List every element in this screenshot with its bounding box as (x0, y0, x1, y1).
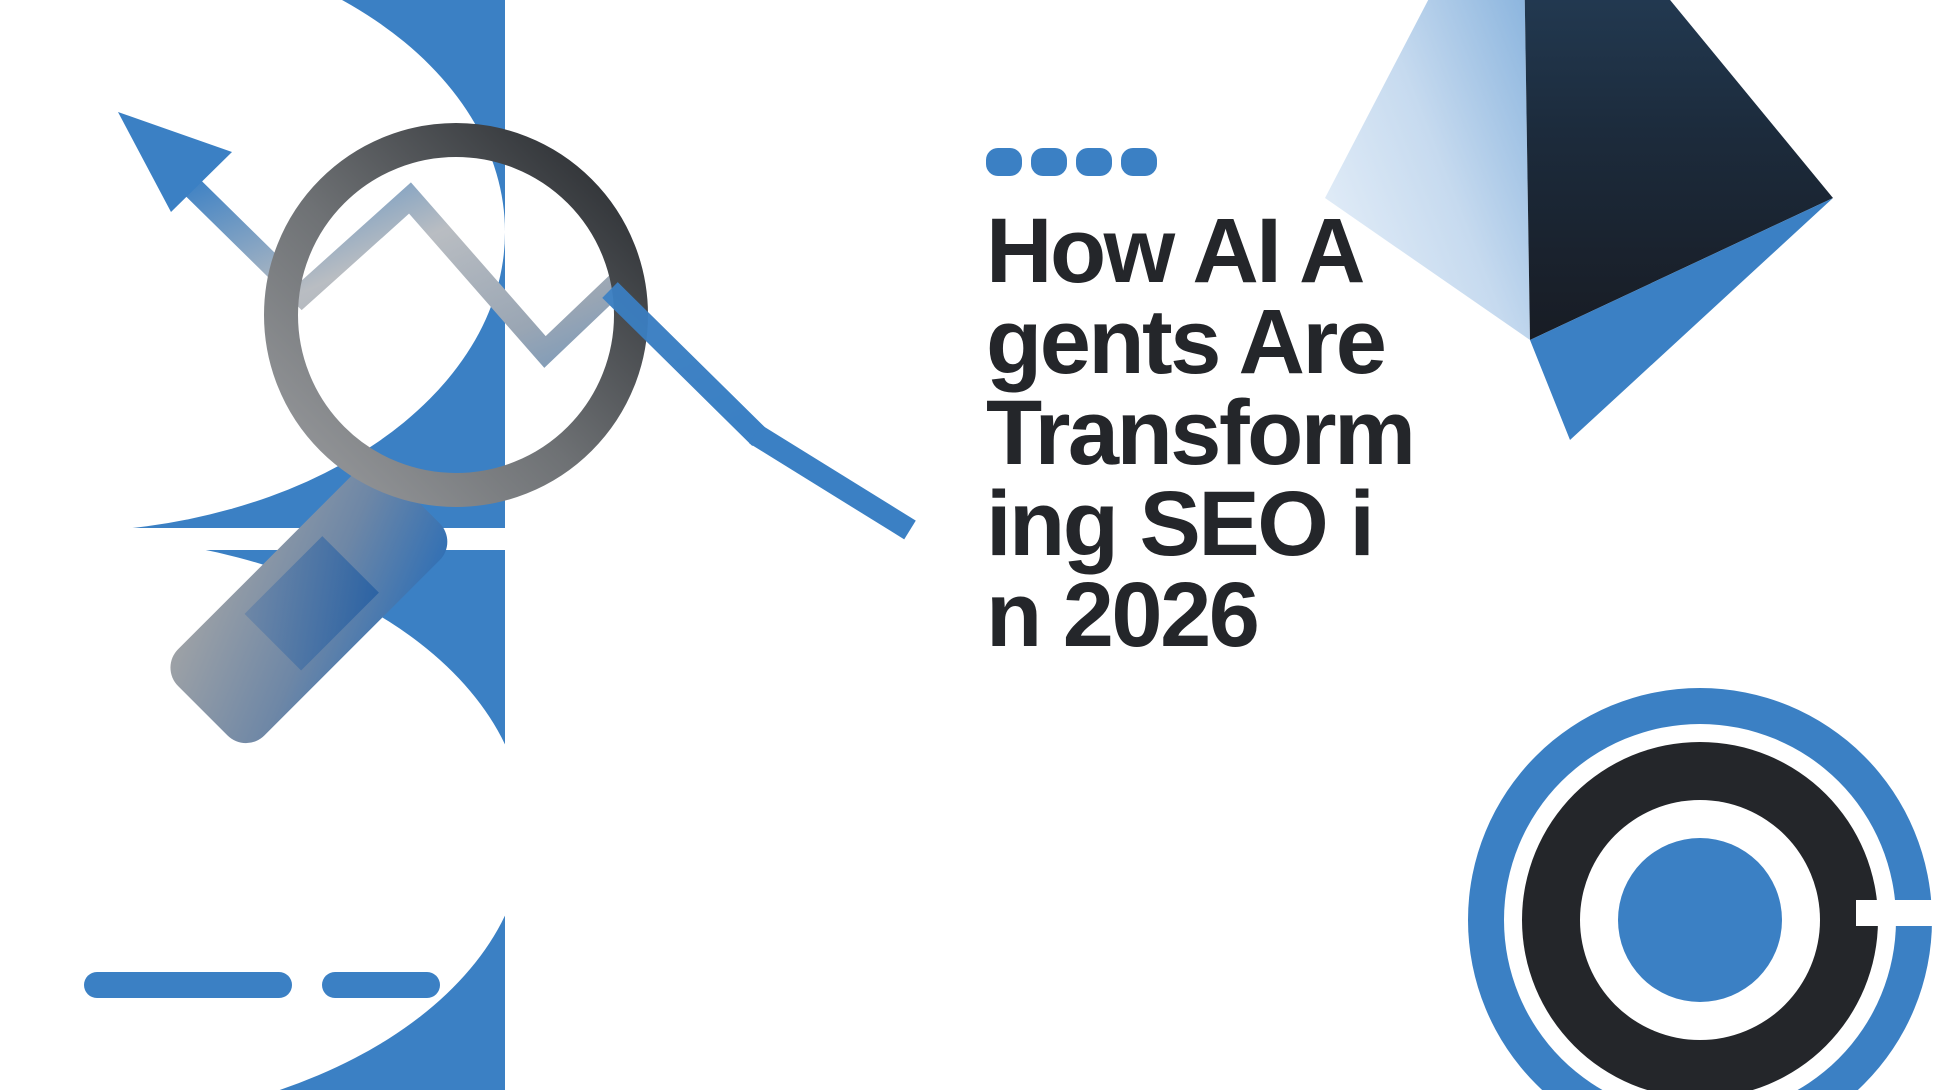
headline-block: How AI Agents Are Transforming SEO in 20… (986, 148, 1416, 661)
magnifier-artwork-layer (0, 0, 1958, 1090)
eyebrow-dots-row (986, 148, 1416, 176)
poster-canvas: How AI Agents Are Transforming SEO in 20… (0, 0, 1958, 1090)
eyebrow-dot-1 (986, 148, 1022, 176)
eyebrow-dot-3 (1076, 148, 1112, 176)
trend-arrow-line (118, 112, 760, 438)
eyebrow-dot-2 (1031, 148, 1067, 176)
trend-line-overlap-tail (610, 290, 910, 530)
page-title: How AI Agents Are Transforming SEO in 20… (986, 206, 1416, 661)
eyebrow-dot-4 (1121, 148, 1157, 176)
